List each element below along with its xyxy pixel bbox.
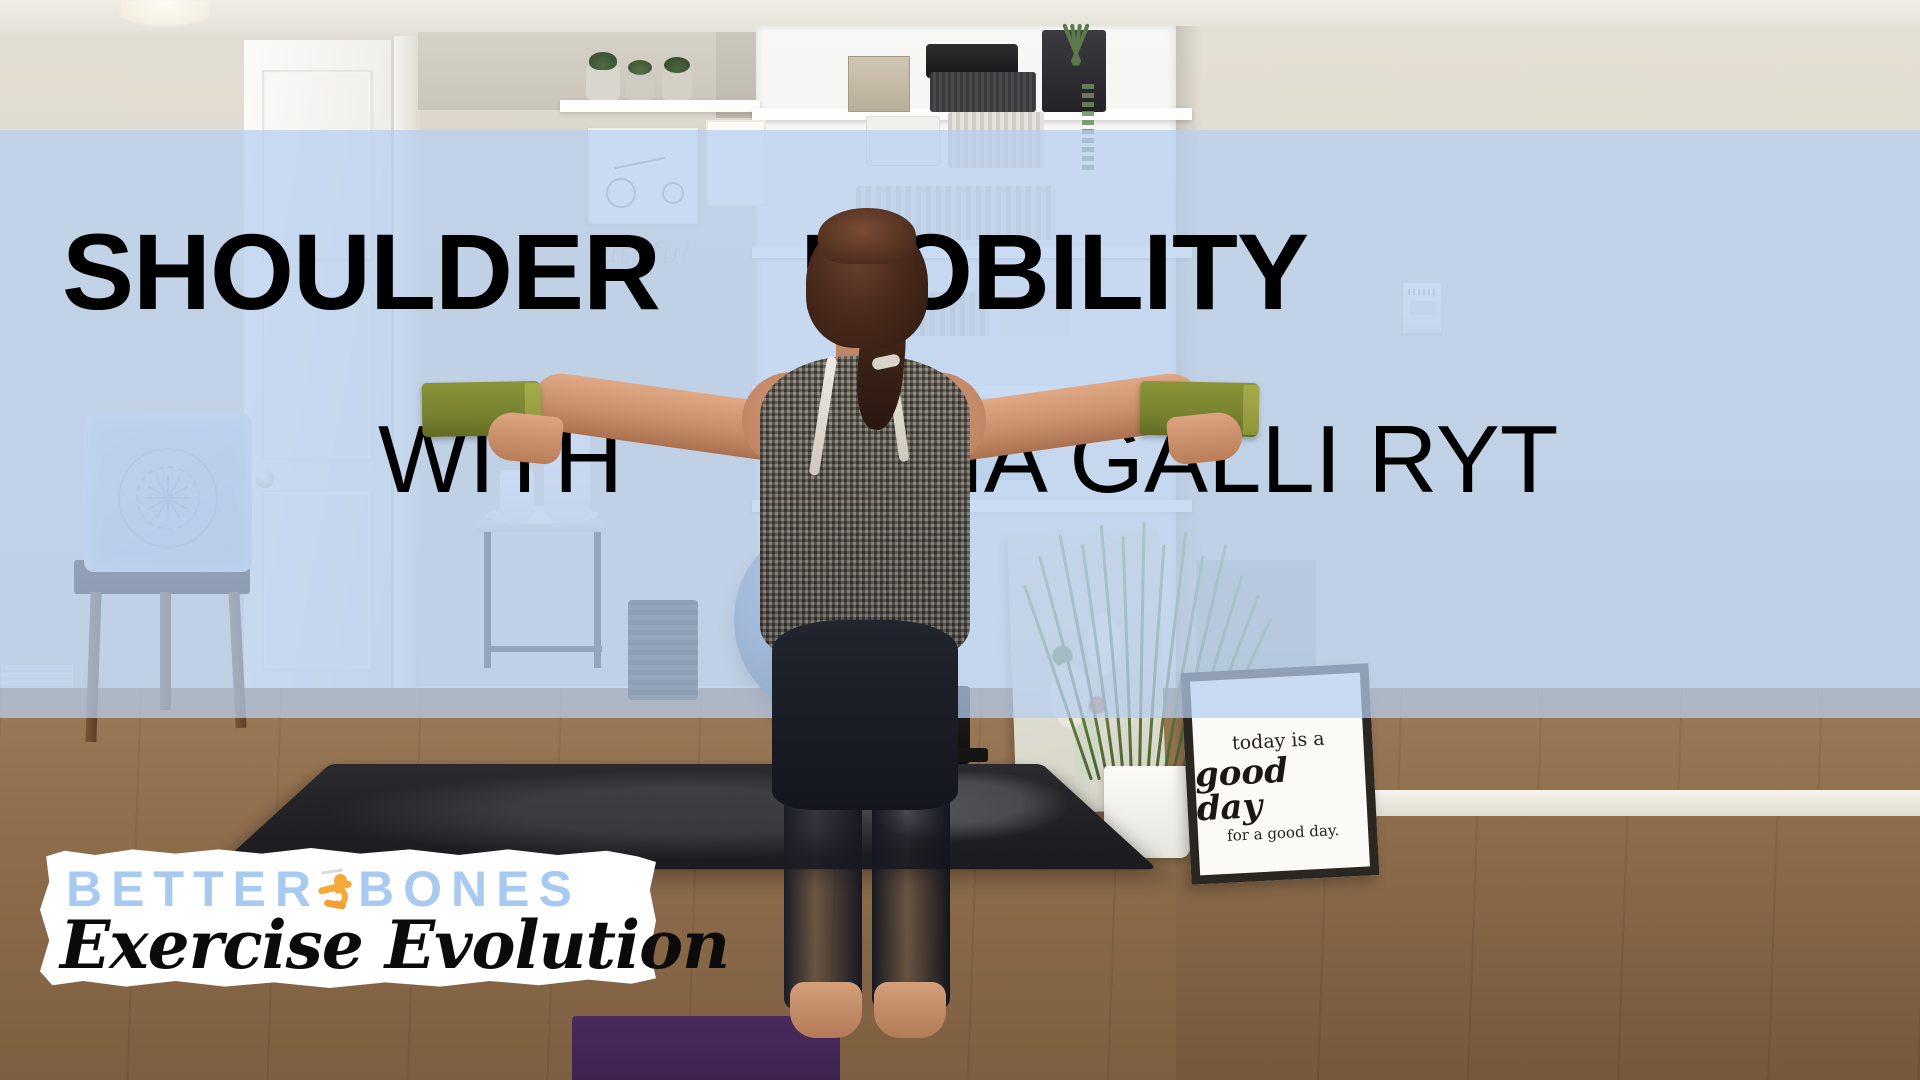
yoga-figure-icon <box>318 867 356 911</box>
foot-left <box>790 982 862 1038</box>
brand-logo: BETTER BONES Exercise Evolution <box>40 848 656 988</box>
hair-crown <box>818 208 916 264</box>
title-line-1: SHOULDERMOBILITY <box>62 218 1862 326</box>
title-word-shoulder: SHOULDER <box>62 211 660 332</box>
video-thumbnail: ateful <box>0 0 1920 1080</box>
foot-right <box>874 982 946 1038</box>
hips-leggings <box>772 620 958 810</box>
logo-tagline: Exercise Evolution <box>60 906 650 978</box>
